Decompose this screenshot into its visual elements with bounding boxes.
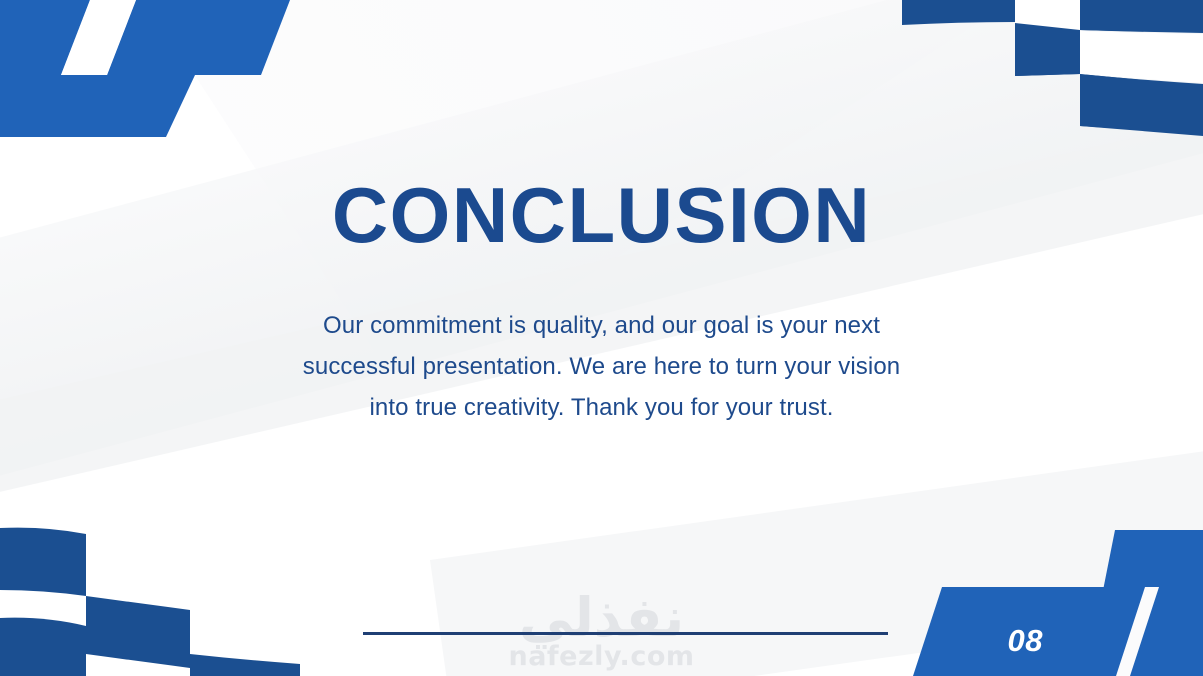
presentation-slide: CONCLUSION Our commitment is quality, an… xyxy=(0,0,1203,676)
decoration-bottom-left xyxy=(0,506,300,676)
page-number: 08 xyxy=(1008,623,1043,659)
slide-content: CONCLUSION Our commitment is quality, an… xyxy=(0,175,1203,429)
page-title: CONCLUSION xyxy=(0,175,1203,257)
background-band-bottom xyxy=(430,435,1203,676)
footer-divider xyxy=(363,632,888,635)
slide-body-text: Our commitment is quality, and our goal … xyxy=(257,305,947,429)
body-line-3: into true creativity. Thank you for your… xyxy=(257,387,947,428)
decoration-top-left xyxy=(0,0,300,150)
decoration-bottom-right xyxy=(913,530,1203,676)
decoration-top-right xyxy=(890,0,1203,170)
body-line-2: successful presentation. We are here to … xyxy=(257,346,947,387)
body-line-1: Our commitment is quality, and our goal … xyxy=(257,305,947,346)
